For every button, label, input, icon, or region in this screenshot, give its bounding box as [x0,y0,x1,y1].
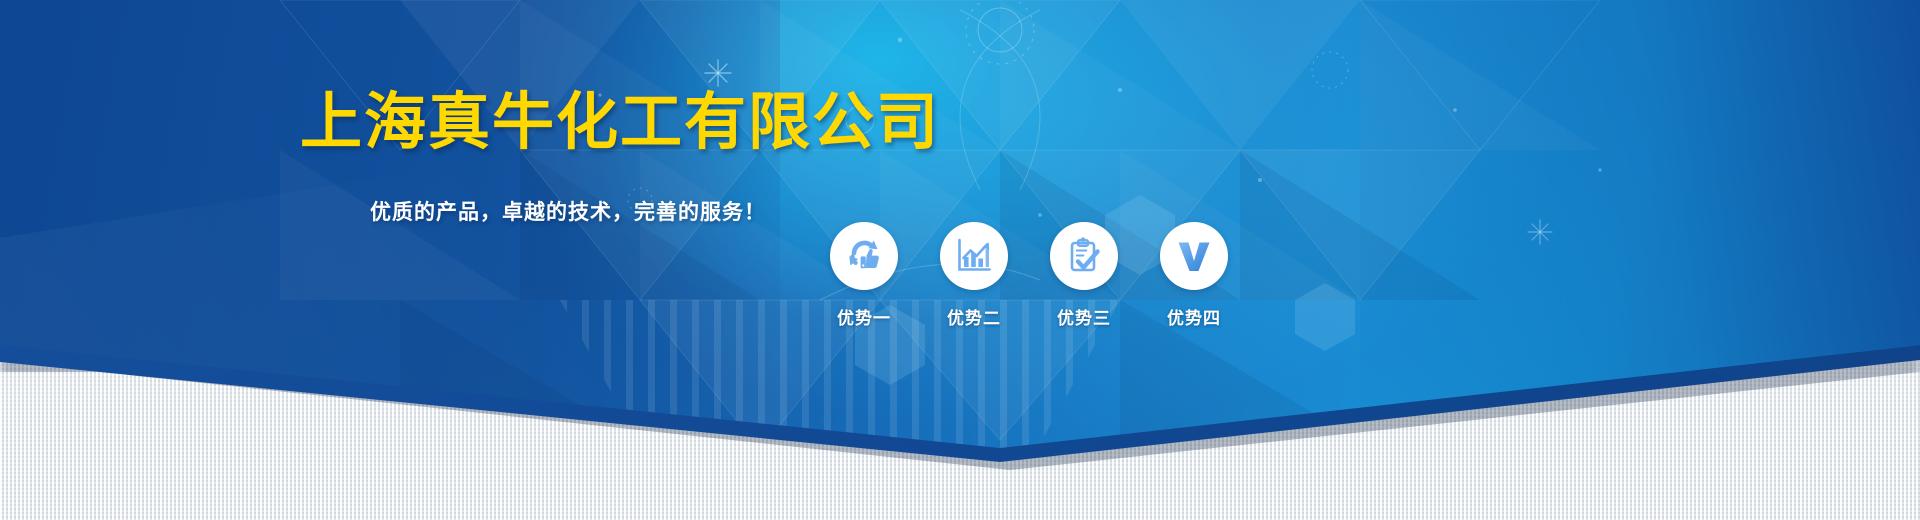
refresh-thumbs-up-icon [844,236,884,276]
advantage-item-3[interactable]: 优势三 [1050,222,1118,329]
advantage-item-4[interactable]: 优势四 [1160,222,1228,329]
v-check-icon [1174,236,1214,276]
company-slogan: 优质的产品，卓越的技术，完善的服务！ [370,196,766,226]
clipboard-check-icon [1064,236,1104,276]
company-title: 上海真牛化工有限公司 [300,92,940,154]
advantage-label-1: 优势一 [837,304,891,329]
banner-content: 上海真牛化工有限公司 优质的产品，卓越的技术，完善的服务！ 优势一 [0,0,1920,520]
advantage-item-2[interactable]: 优势二 [940,222,1008,329]
advantage-icon-circle-3 [1050,222,1118,290]
company-hero-banner: 上海真牛化工有限公司 优质的产品，卓越的技术，完善的服务！ 优势一 [0,0,1920,520]
advantages-row: 优势一 优势二 [830,222,1228,329]
bar-chart-growth-icon [954,236,994,276]
advantage-label-2: 优势二 [947,304,1001,329]
advantage-item-1[interactable]: 优势一 [830,222,898,329]
advantage-icon-circle-1 [830,222,898,290]
advantage-label-4: 优势四 [1167,304,1221,329]
advantage-icon-circle-4 [1160,222,1228,290]
advantage-icon-circle-2 [940,222,1008,290]
advantage-label-3: 优势三 [1057,304,1111,329]
